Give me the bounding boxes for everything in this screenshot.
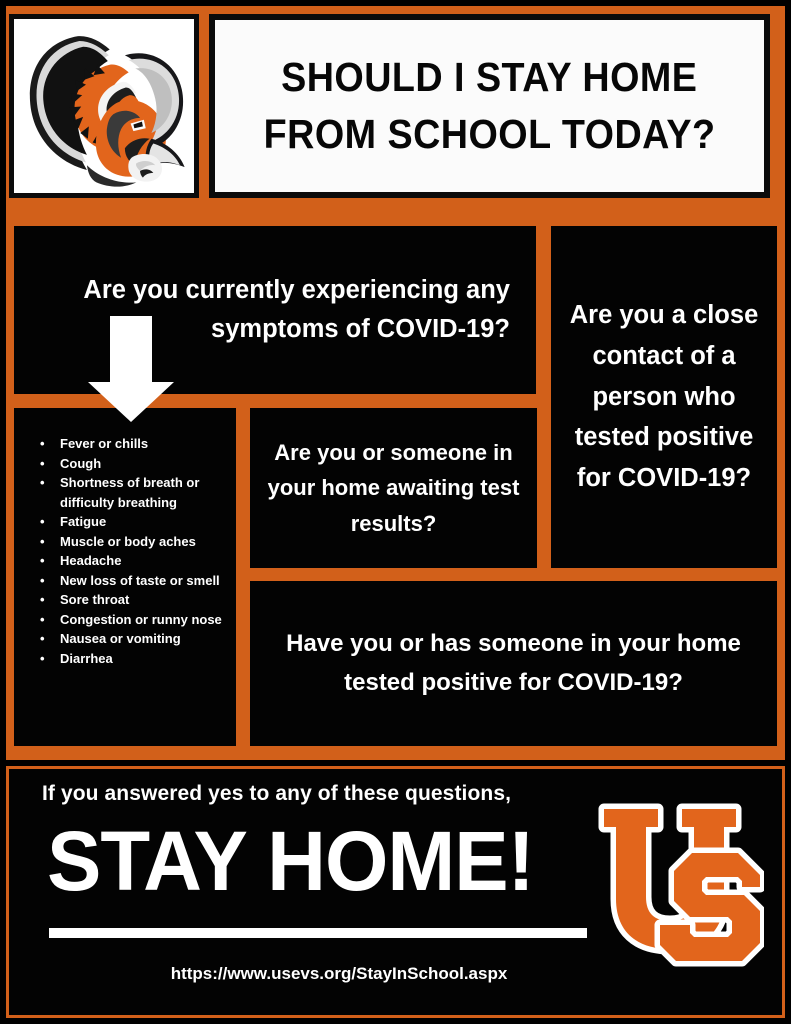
list-item: Sore throat [24, 590, 224, 610]
school-mascot-logo-box [9, 14, 199, 198]
poster-title-line-1: SHOULD I STAY HOME [281, 49, 697, 106]
list-item: Cough [24, 454, 224, 474]
down-arrow-icon [88, 316, 174, 422]
footer-panel: If you answered yes to any of these ques… [6, 766, 785, 1018]
list-item: Fatigue [24, 512, 224, 532]
ram-mascot-icon [18, 23, 190, 189]
footer-headline-underline [49, 928, 587, 938]
question-card-tested-positive: Have you or has someone in your home tes… [250, 581, 777, 746]
list-item: Muscle or body aches [24, 532, 224, 552]
header-row: SHOULD I STAY HOME FROM SCHOOL TODAY? [9, 14, 770, 198]
footer-lead-text: If you answered yes to any of these ques… [42, 782, 511, 806]
footer-headline: STAY HOME! [47, 819, 534, 903]
poster-title-box: SHOULD I STAY HOME FROM SCHOOL TODAY? [209, 14, 770, 198]
question-card-awaiting-results: Are you or someone in your home awaiting… [250, 408, 537, 568]
symptom-list: Fever or chills Cough Shortness of breat… [24, 434, 224, 668]
poster-root: SHOULD I STAY HOME FROM SCHOOL TODAY? Ar… [0, 0, 791, 1024]
list-item: New loss of taste or smell [24, 571, 224, 591]
list-item: Fever or chills [24, 434, 224, 454]
us-monogram-icon [596, 801, 764, 973]
symptom-list-card: Fever or chills Cough Shortness of breat… [14, 408, 236, 746]
poster-title-line-2: FROM SCHOOL TODAY? [264, 106, 716, 163]
question-tested-positive-text: Have you or has someone in your home tes… [266, 625, 761, 703]
list-item: Headache [24, 551, 224, 571]
list-item: Congestion or runny nose [24, 610, 224, 630]
question-awaiting-results-text: Are you or someone in your home awaiting… [262, 435, 525, 542]
list-item: Shortness of breath or difficulty breath… [24, 473, 224, 512]
question-card-close-contact: Are you a close contact of a person who … [551, 226, 777, 568]
list-item: Diarrhea [24, 649, 224, 669]
question-close-contact-text: Are you a close contact of a person who … [561, 295, 767, 499]
list-item: Nausea or vomiting [24, 629, 224, 649]
footer-url-text[interactable]: https://www.usevs.org/StayInSchool.aspx [9, 964, 669, 984]
